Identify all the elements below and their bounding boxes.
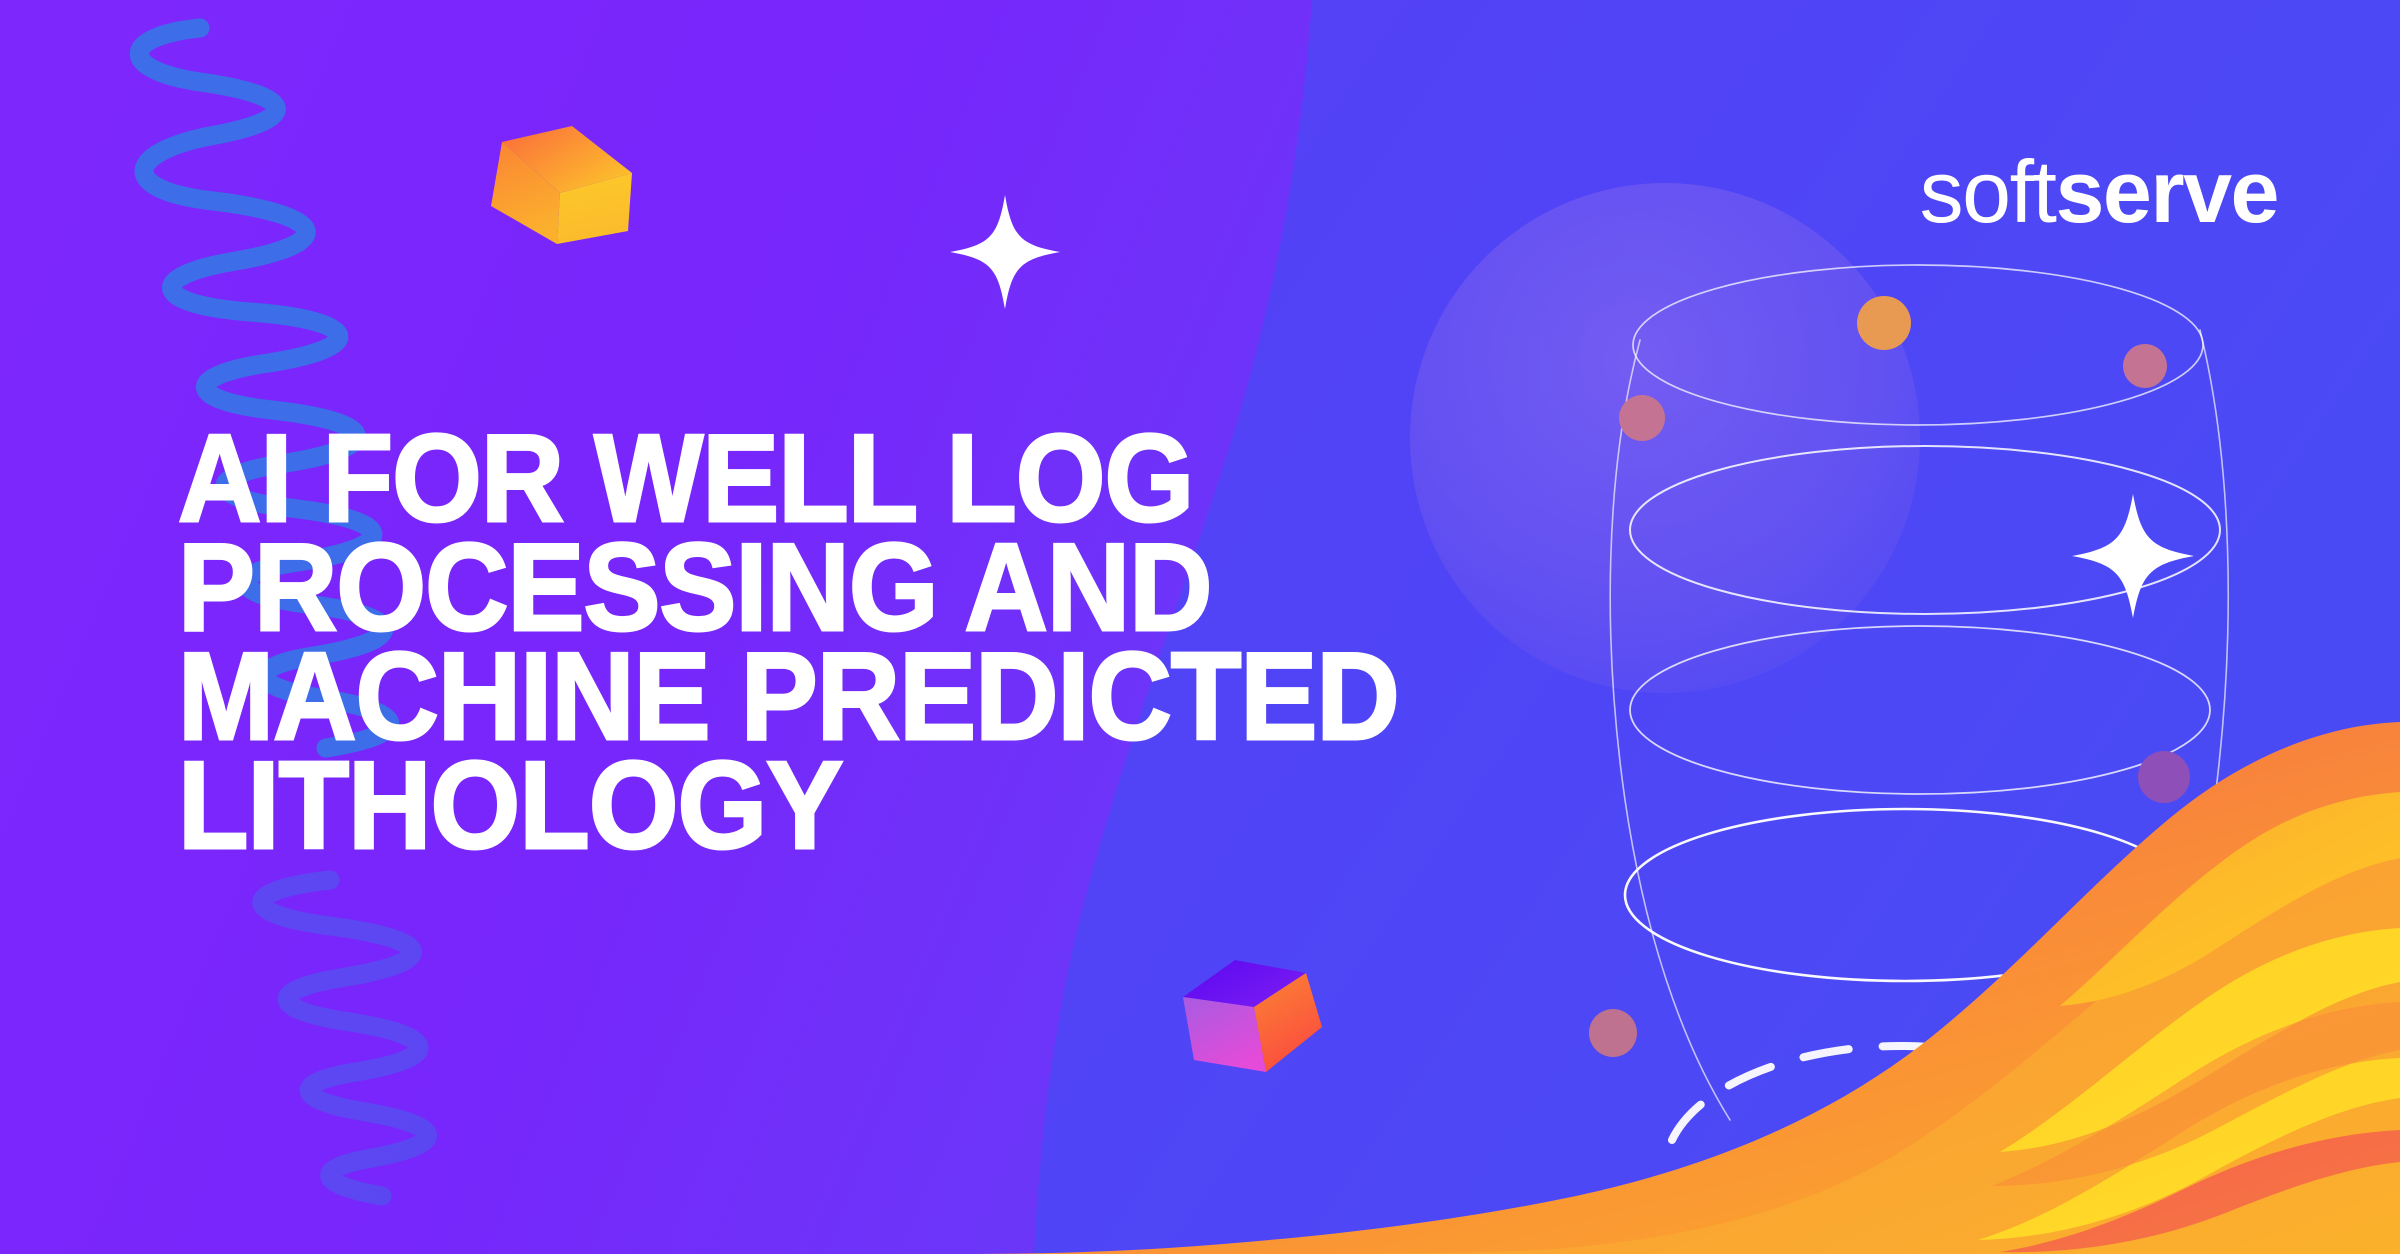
logo-text-soft: soft xyxy=(1920,148,2056,236)
hero-banner: AI FOR WELL LOG PROCESSING AND MACHINE P… xyxy=(0,0,2400,1254)
cube-magenta-left xyxy=(1183,997,1266,1072)
cube-orange xyxy=(491,126,632,244)
logo-text-serve: serve xyxy=(2055,148,2278,236)
softserve-logo: soft serve xyxy=(1920,148,2278,236)
cube-magenta xyxy=(1183,960,1322,1072)
